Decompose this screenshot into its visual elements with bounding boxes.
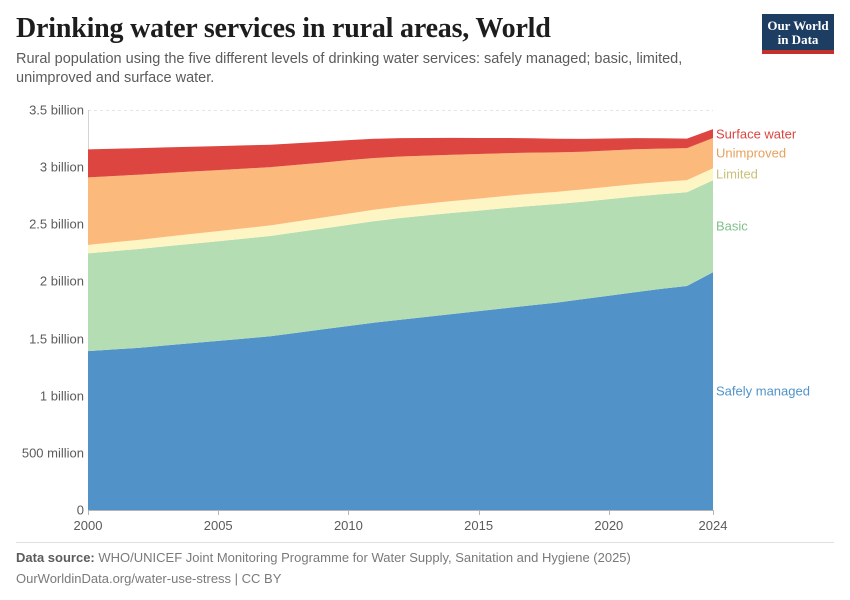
page-title: Drinking water services in rural areas, …: [16, 12, 756, 46]
x-axis-tick-mark: [713, 510, 714, 515]
y-axis-tick-label: 3 billion: [4, 160, 84, 175]
x-axis-tick-mark: [218, 510, 219, 515]
x-axis-tick-label: 2015: [464, 518, 493, 533]
series-legend: Surface waterUnimprovedLimitedBasicSafel…: [716, 110, 850, 510]
data-source-label: Data source:: [16, 550, 95, 565]
series-label-limited[interactable]: Limited: [716, 167, 758, 182]
series-label-basic[interactable]: Basic: [716, 219, 748, 234]
y-axis-tick-label: 1.5 billion: [4, 331, 84, 346]
x-axis-tick-mark: [348, 510, 349, 515]
x-axis-tick-mark: [479, 510, 480, 515]
y-axis: 0500 million1 billion1.5 billion2 billio…: [0, 110, 84, 510]
x-axis-tick-label: 2005: [204, 518, 233, 533]
plot-area[interactable]: [88, 110, 713, 510]
footer: Data source: WHO/UNICEF Joint Monitoring…: [16, 548, 716, 588]
x-axis-tick-label: 2024: [699, 518, 728, 533]
x-axis: 200020052010201520202024: [88, 510, 713, 536]
data-source-line: Data source: WHO/UNICEF Joint Monitoring…: [16, 548, 716, 567]
owid-logo-line1: Our World: [762, 19, 834, 33]
chart-subtitle: Rural population using the five differen…: [16, 50, 716, 88]
y-axis-tick-label: 2.5 billion: [4, 217, 84, 232]
data-source-text: WHO/UNICEF Joint Monitoring Programme fo…: [98, 550, 631, 565]
x-axis-tick-label: 2010: [334, 518, 363, 533]
x-axis-tick-mark: [609, 510, 610, 515]
chart-page: Drinking water services in rural areas, …: [0, 0, 850, 600]
series-label-safely-managed[interactable]: Safely managed: [716, 384, 810, 399]
y-axis-tick-label: 2 billion: [4, 274, 84, 289]
y-axis-tick-label: 1 billion: [4, 388, 84, 403]
footer-url-license[interactable]: OurWorldinData.org/water-use-stress | CC…: [16, 569, 716, 588]
x-axis-tick-label: 2020: [594, 518, 623, 533]
owid-logo[interactable]: Our World in Data: [762, 14, 834, 54]
series-label-unimproved[interactable]: Unimproved: [716, 146, 786, 161]
x-axis-tick-label: 2000: [74, 518, 103, 533]
x-axis-tick-mark: [88, 510, 89, 515]
y-axis-tick-label: 500 million: [4, 445, 84, 460]
footer-divider: [16, 542, 834, 543]
y-axis-tick-label: 0: [4, 503, 84, 518]
owid-logo-line2: in Data: [762, 33, 834, 47]
series-label-surface-water[interactable]: Surface water: [716, 126, 796, 141]
stacked-area-svg: [88, 110, 713, 510]
y-axis-tick-label: 3.5 billion: [4, 103, 84, 118]
